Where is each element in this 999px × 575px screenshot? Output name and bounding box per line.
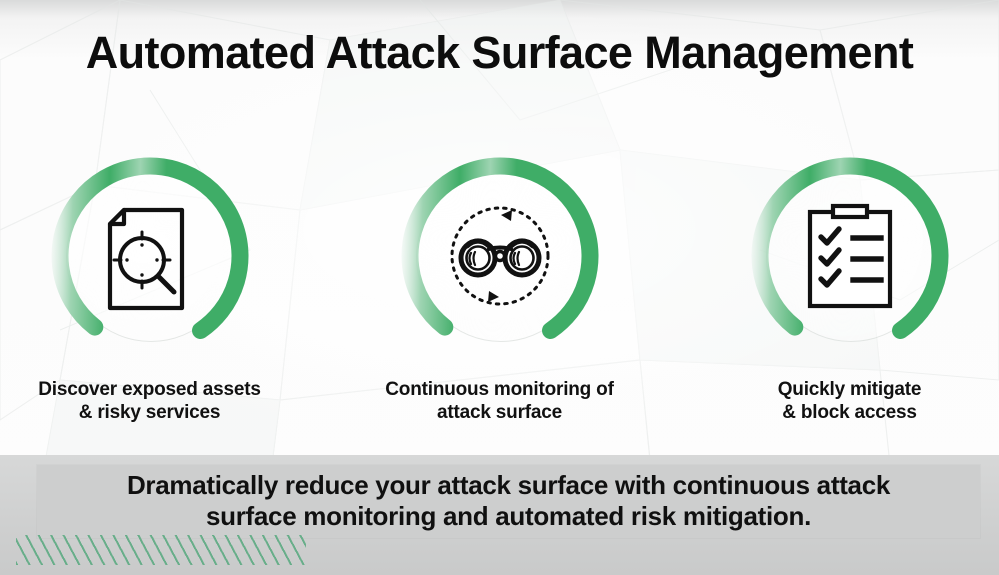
caption-line-1: Discover exposed assets <box>38 379 260 400</box>
caption-line-1: Quickly mitigate <box>778 379 922 400</box>
document-search-icon <box>90 196 210 316</box>
binoculars-monitoring-icon <box>440 196 560 316</box>
banner-line-2: surface monitoring and automated risk mi… <box>37 501 980 532</box>
slide-canvas: Automated Attack Surface Management <box>0 0 999 575</box>
clipboard-checklist-icon <box>790 196 910 316</box>
feature-caption-1: Discover exposed assets & risky services <box>38 378 260 424</box>
diagonal-hatch-decoration <box>16 535 306 565</box>
caption-line-2: & risky services <box>38 401 260 424</box>
feature-item-monitoring: Continuous monitoring of attack surface <box>370 150 630 424</box>
caption-line-2: attack surface <box>385 401 613 424</box>
page-title: Automated Attack Surface Management <box>0 27 999 79</box>
feature-caption-2: Continuous monitoring of attack surface <box>385 378 613 424</box>
caption-line-2: & block access <box>778 401 922 424</box>
feature-item-mitigate: Quickly mitigate & block access <box>720 150 980 424</box>
progress-ring-3 <box>744 150 956 362</box>
caption-line-1: Continuous monitoring of <box>385 379 613 400</box>
banner-line-1: Dramatically reduce your attack surface … <box>127 470 890 500</box>
banner-text: Dramatically reduce your attack surface … <box>37 470 980 531</box>
progress-ring-2 <box>394 150 606 362</box>
feature-caption-3: Quickly mitigate & block access <box>778 378 922 424</box>
progress-ring-1 <box>44 150 256 362</box>
feature-row: Discover exposed assets & risky services <box>0 150 999 424</box>
feature-item-discover: Discover exposed assets & risky services <box>20 150 280 424</box>
